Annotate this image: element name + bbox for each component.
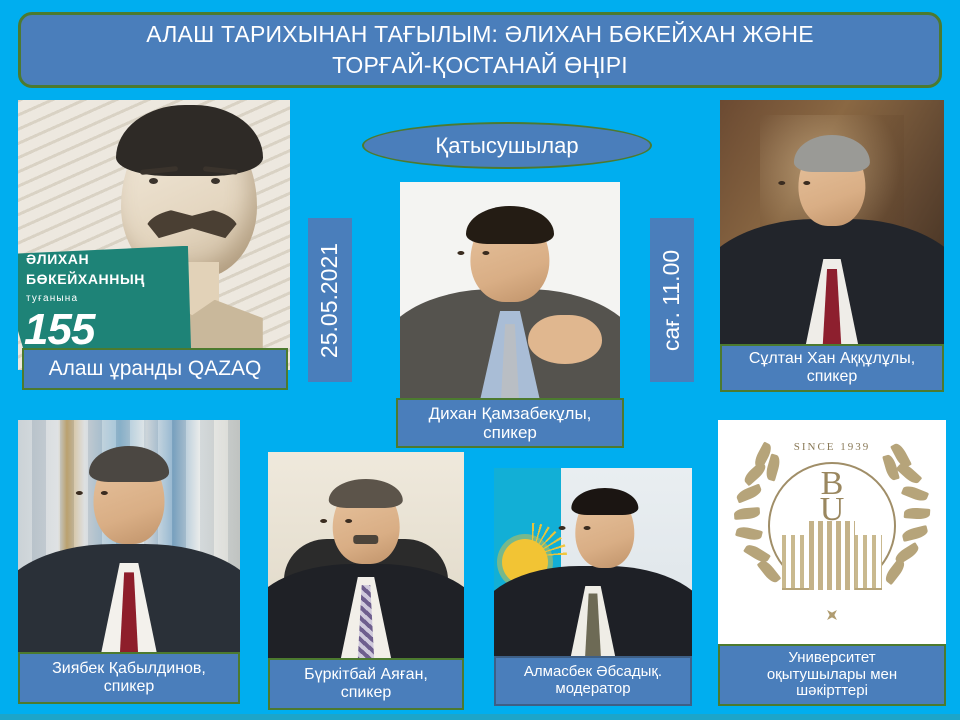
caption-university-participants: Университет оқытушылары мен шәкірттері [718, 644, 946, 706]
photo-eyes [311, 510, 421, 528]
poster-name-line1: ӘЛИХАН [26, 251, 89, 267]
caption-ziyabek-kabyldinov: Зиябек Қабылдинов, спикер [18, 652, 240, 704]
poster-subtitle: туғанына [26, 293, 78, 304]
time-label-box: сағ. 11.00 [650, 218, 694, 382]
caption-almasbek-absadyk: Алмасбек Әбсадық. модератор [494, 656, 692, 706]
poster-name-line2: БӨКЕЙХАННЫҢ [26, 271, 145, 287]
photo-dikhan-kamzabekuly [400, 182, 620, 404]
slide-title-banner: АЛАШ ТАРИХЫНАН ТАҒЫЛЫМ: ӘЛИХАН БӨКЕЙХАН … [18, 12, 942, 88]
poster-portrait-eye-left [149, 178, 158, 184]
photo-almasbek-absadyk [494, 468, 692, 664]
photo-eyes [769, 172, 894, 190]
logo-since-text: SINCE 1939 [794, 441, 871, 453]
logo-star-icon [822, 606, 842, 626]
photo-sultan-khan-akkululy [720, 100, 944, 348]
photo-ziyabek-kabyldinov [18, 420, 240, 658]
photo-eyes [67, 482, 191, 500]
presentation-slide: АЛАШ ТАРИХЫНАН ТАҒЫЛЫМ: ӘЛИХАН БӨКЕЙХАН … [0, 0, 960, 720]
photo-eyes [549, 517, 660, 535]
photo-eyes [448, 242, 571, 260]
photo-mustache [353, 535, 378, 543]
logo-columns [809, 521, 855, 590]
photo-burkitbay-ayagan [268, 452, 464, 660]
caption-dikhan-kamzabekuly: Дихан Қамзабекұлы, спикер [396, 398, 624, 448]
logo-monogram: B U [820, 471, 845, 523]
participants-oval: Қатысушылар [362, 122, 652, 169]
photo-hands [528, 315, 603, 364]
page-title: АЛАШ ТАРИХЫНАН ТАҒЫЛЫМ: ӘЛИХАН БӨКЕЙХАН … [146, 19, 814, 81]
caption-burkitbay-ayagan: Бүркітбай Аяған, спикер [268, 658, 464, 710]
poster-image-alikhan-bokeikhan: ӘЛИХАН БӨКЕЙХАННЫҢ туғанына 155 жыл [18, 100, 290, 370]
caption-alash-urandy-qazaq: Алаш ұранды QAZAQ [22, 348, 288, 390]
caption-sultan-khan-akkululy: Сұлтан Хан Аққұлұлы, спикер [720, 344, 944, 392]
university-logo: SINCE 1939 B U [718, 420, 946, 650]
participants-label: Қатысушылар [435, 133, 578, 159]
date-label-box: 25.05.2021 [308, 218, 352, 382]
